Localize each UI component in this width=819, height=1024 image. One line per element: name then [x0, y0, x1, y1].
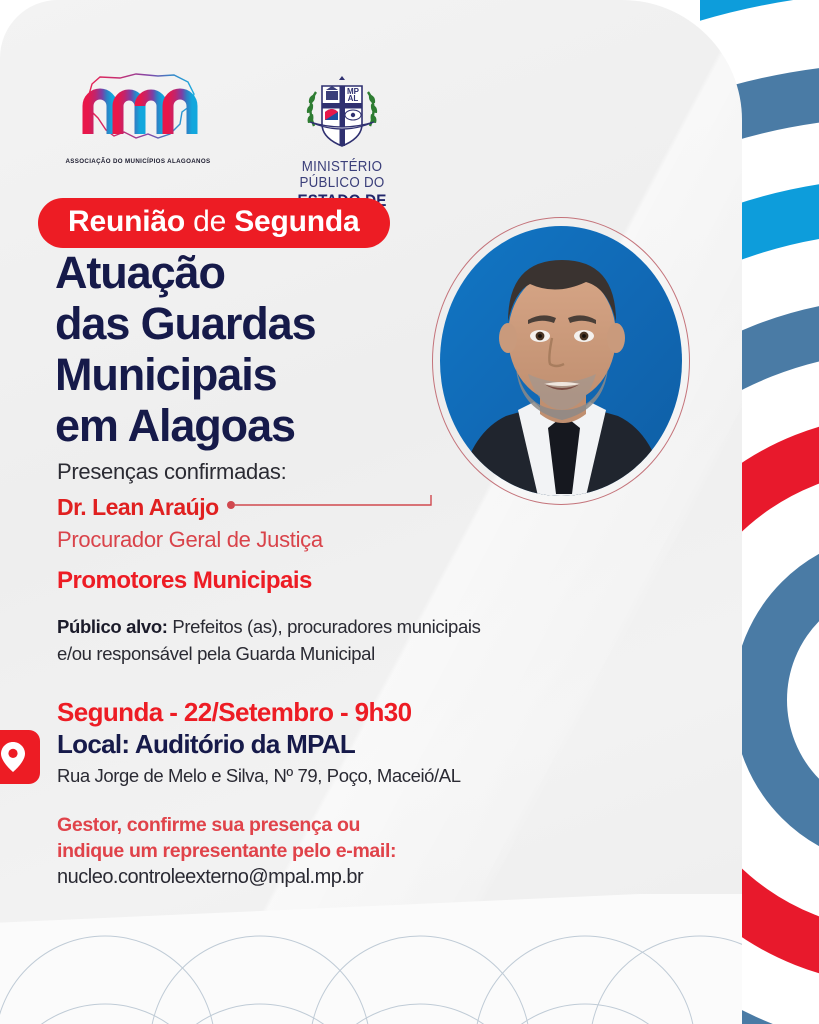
- mpal-line-1: MINISTÉRIO PÚBLICO DO: [272, 159, 412, 191]
- speaker-portrait: [432, 217, 690, 507]
- audience-line-2: e/ou responsável pela Guarda Municipal: [57, 643, 375, 664]
- speaker-name: Dr. Lean Araújo: [57, 494, 219, 521]
- audience-line-1: Prefeitos (as), procuradores municipais: [168, 616, 481, 637]
- event-datetime: Segunda - 22/Setembro - 9h30: [57, 697, 412, 728]
- audience-block: Público alvo: Prefeitos (as), procurador…: [57, 613, 537, 667]
- cta-line-2: indique um representante pelo e-mail:: [57, 838, 396, 864]
- badge-prefix: Reunião: [68, 205, 185, 238]
- ama-logo: ASSOCIAÇÃO DO MUNICÍPIOS ALAGOANOS: [62, 72, 214, 165]
- speaker-role: Procurador Geral de Justiça: [57, 527, 323, 553]
- badge-middle: de: [193, 205, 226, 238]
- mpal-crest-icon: MP AL: [292, 74, 392, 152]
- title-line-1: Atuação: [55, 247, 475, 298]
- audience-label: Público alvo:: [57, 616, 168, 637]
- contact-email[interactable]: nucleo.controleexterno@mpal.mp.br: [57, 866, 363, 889]
- event-venue: Local: Auditório da MPAL: [57, 729, 355, 760]
- page-title: Atuação das Guardas Municipais em Alagoa…: [55, 247, 475, 451]
- speaker-connector-line: [225, 495, 465, 530]
- cta-text: Gestor, confirme sua presença ou indique…: [57, 812, 396, 864]
- arc-ring-6: [760, 560, 819, 840]
- ama-logo-mark: [62, 72, 214, 152]
- ama-tagline: ASSOCIAÇÃO DO MUNICÍPIOS ALAGOANOS: [62, 158, 214, 165]
- event-address: Rua Jorge de Melo e Silva, Nº 79, Poço, …: [57, 765, 461, 787]
- attendance-second-group: Promotores Municipais: [57, 567, 312, 595]
- title-line-4: em Alagoas: [55, 400, 475, 451]
- event-type-badge: Reunião de Segunda: [38, 198, 390, 248]
- svg-text:AL: AL: [348, 94, 359, 103]
- poster-canvas: ASSOCIAÇÃO DO MUNICÍPIOS ALAGOANOS: [0, 0, 819, 1024]
- title-line-2: das Guardas: [55, 298, 475, 349]
- attendance-heading: Presenças confirmadas:: [57, 459, 286, 485]
- map-pin-icon: [0, 741, 26, 773]
- title-line-3: Municipais: [55, 349, 475, 400]
- badge-suffix: Segunda: [234, 205, 359, 238]
- portrait-ring-outline: [432, 217, 690, 505]
- location-pin-badge: [0, 730, 40, 784]
- poster-content: ASSOCIAÇÃO DO MUNICÍPIOS ALAGOANOS: [0, 0, 742, 1024]
- cta-line-1: Gestor, confirme sua presença ou: [57, 812, 396, 838]
